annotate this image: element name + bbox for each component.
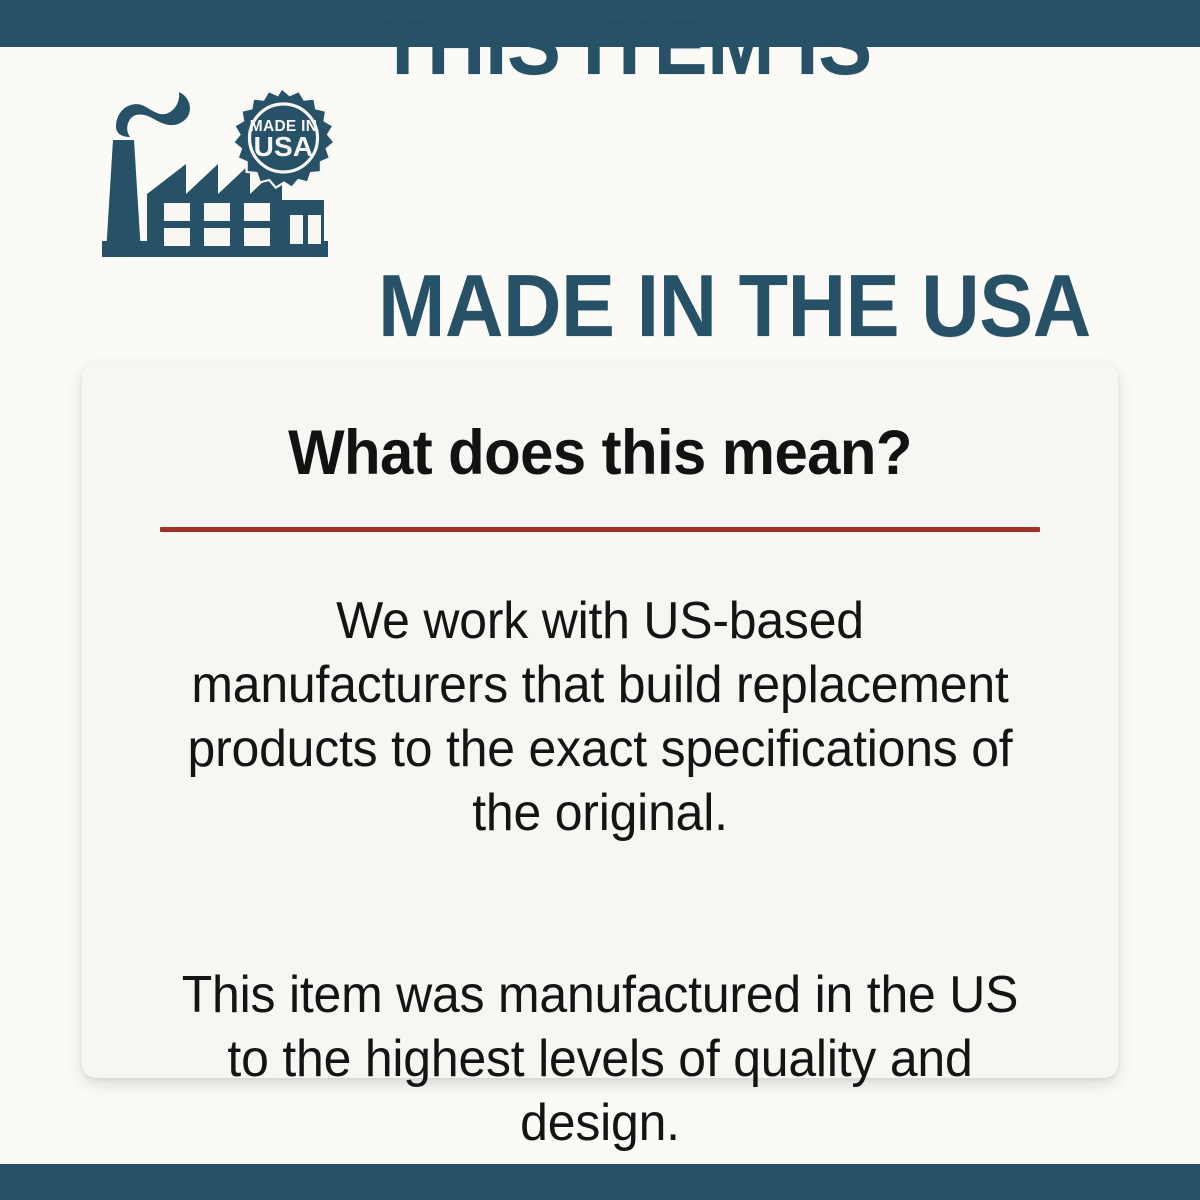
headline-line-1: THIS ITEM IS (378, 0, 1091, 87)
bottom-accent-bar (0, 1164, 1200, 1200)
banner-header: MADE IN USA THIS ITEM IS MADE IN THE USA (0, 47, 1200, 302)
title-divider (160, 527, 1040, 532)
factory-with-made-in-usa-seal-icon: MADE IN USA (100, 90, 340, 265)
card-paragraph-2: This item was manufactured in the US to … (103, 964, 1098, 1156)
card-paragraph-1: We work with US-based manufacturers that… (103, 590, 1098, 846)
card-title: What does this mean? (108, 362, 1092, 485)
explanation-card: What does this mean? We work with US-bas… (82, 362, 1118, 1078)
headline-line-2: MADE IN THE USA (378, 262, 1091, 349)
seal-usa-text: USA (254, 131, 314, 162)
made-in-usa-banner: MADE IN USA THIS ITEM IS MADE IN THE USA… (0, 0, 1200, 1200)
